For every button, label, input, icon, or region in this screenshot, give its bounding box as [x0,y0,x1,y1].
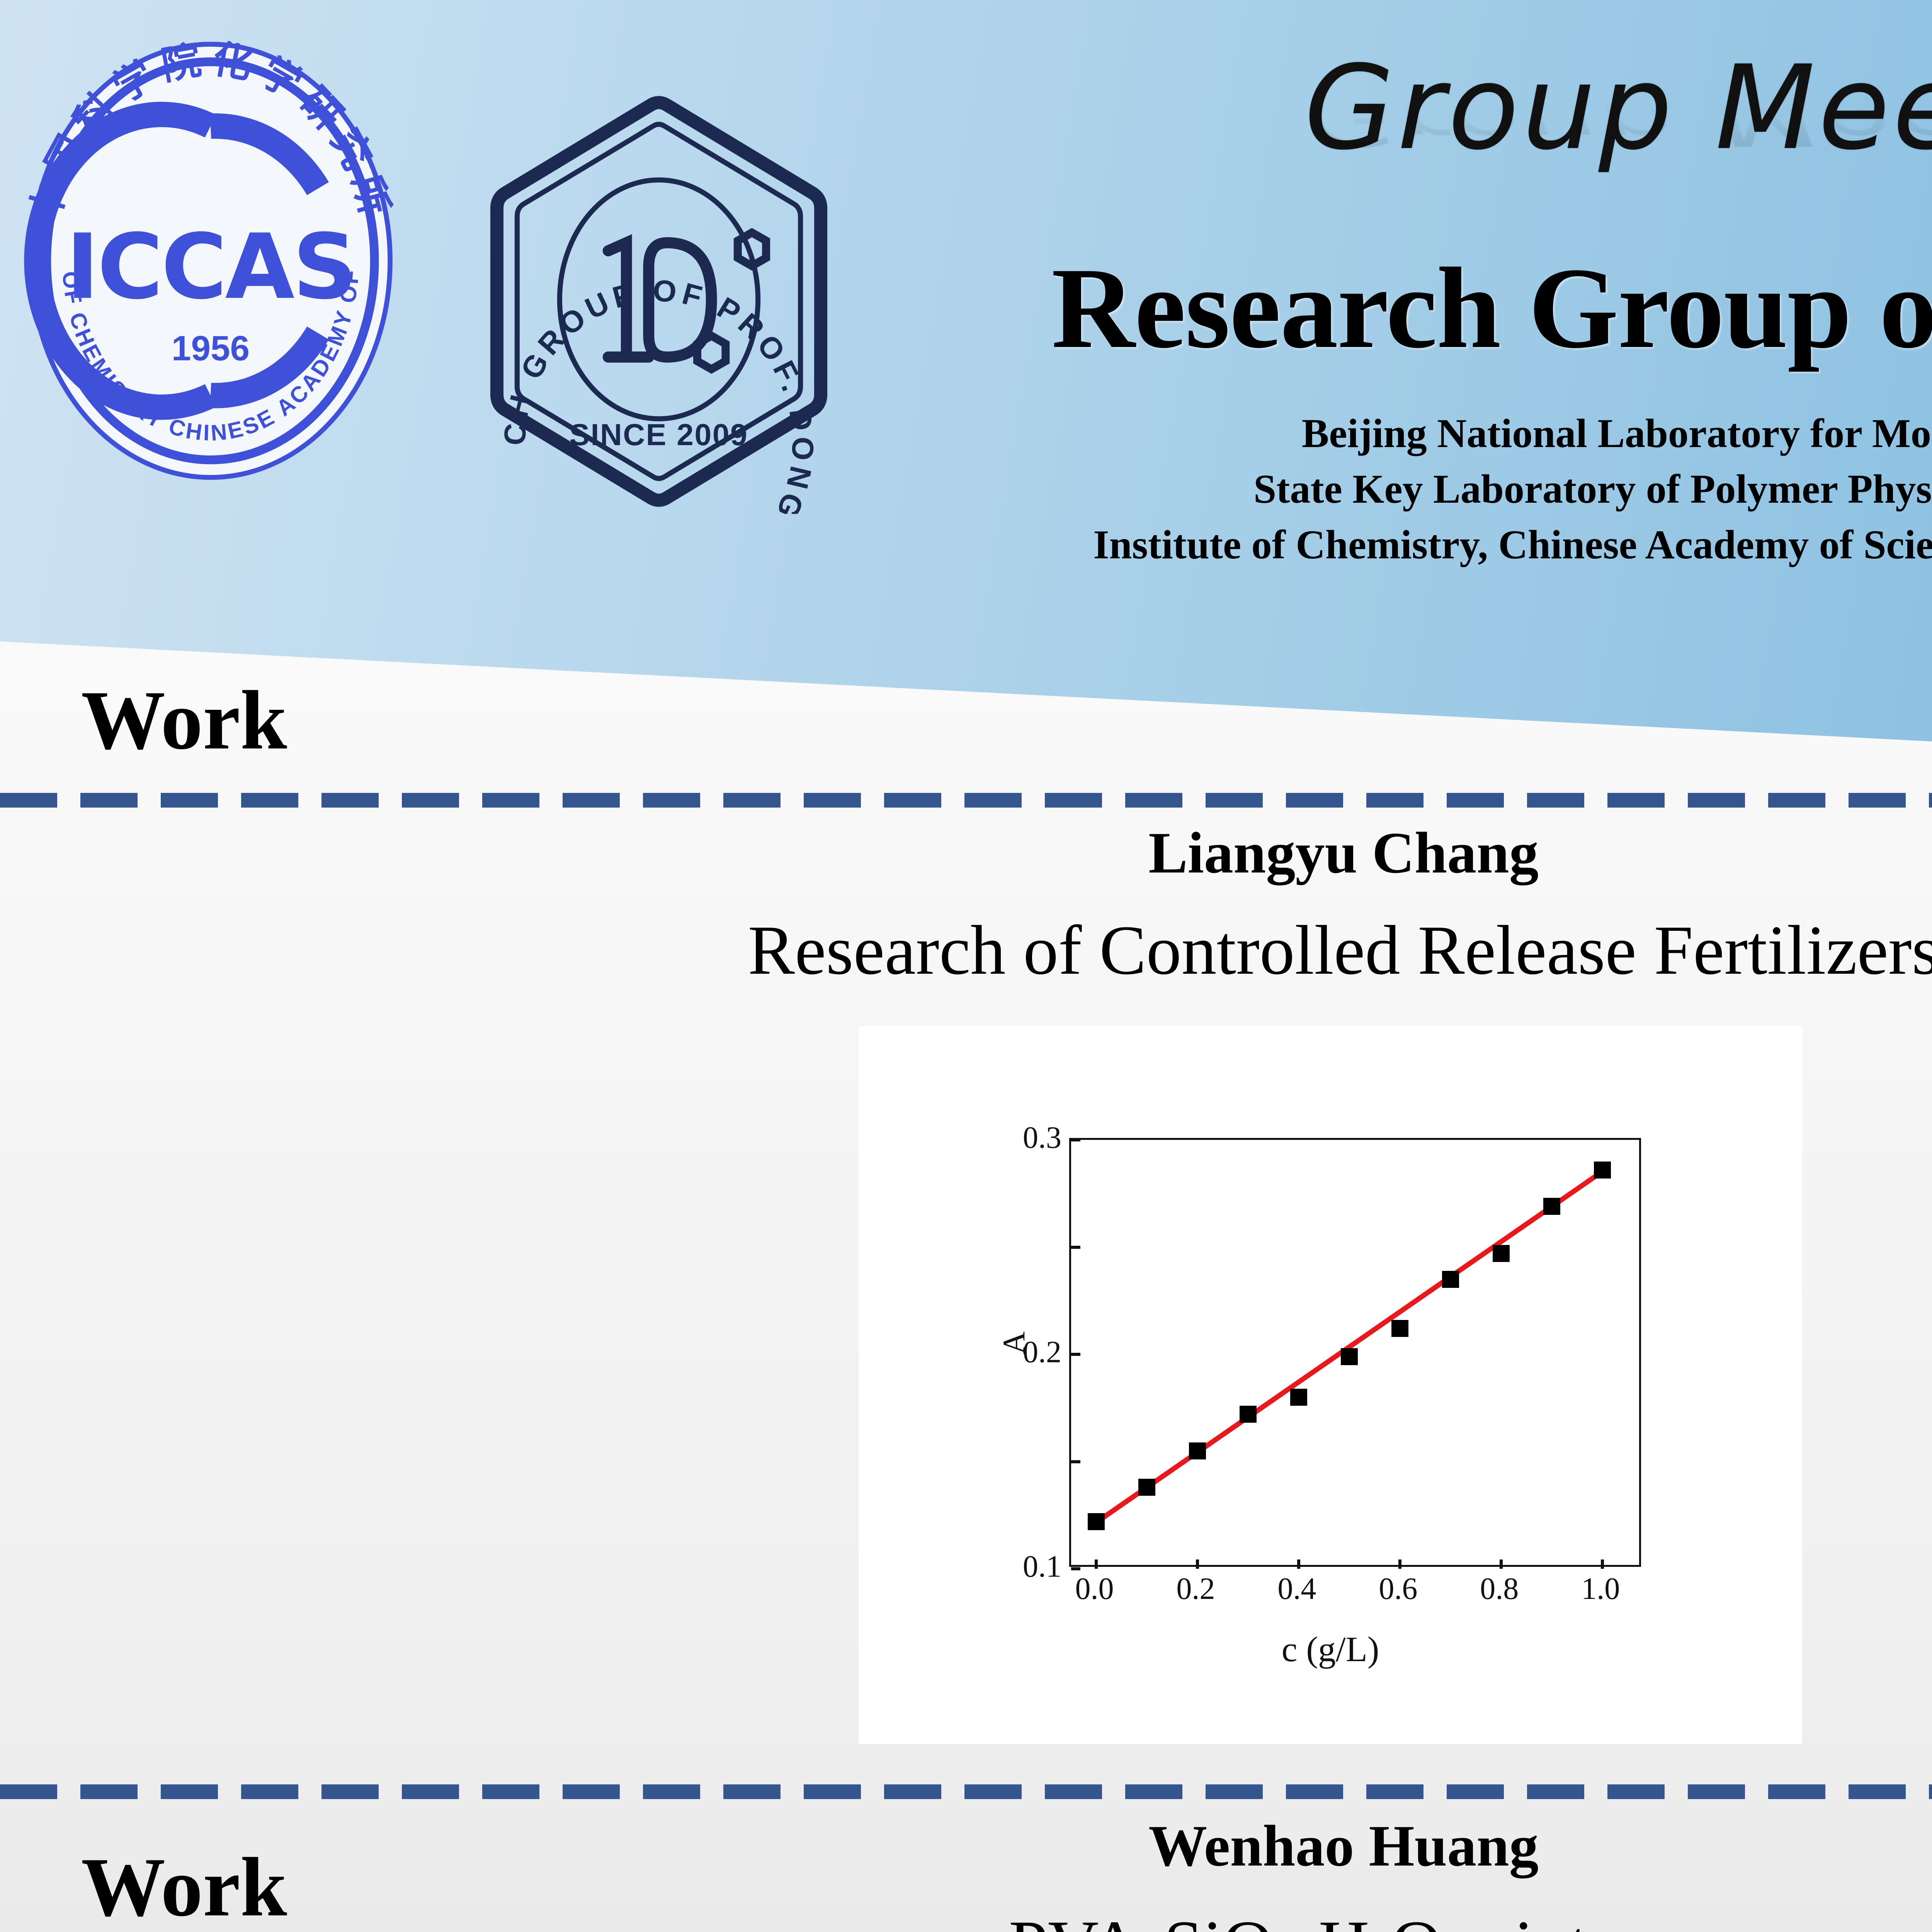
affiliation-line-2: State Key Laboratory of Polymer Physics … [842,461,1932,517]
chart1-x-tickmark [1601,1560,1604,1569]
section-label-work-1: Work [81,672,287,769]
title-block: Group Meeting Group Meeting Research Gro… [842,50,1932,573]
section-divider-2 [0,1784,1932,1799]
chart1-x-tickmark [1095,1560,1098,1569]
chart1-y-tickmark [1071,1567,1080,1570]
talk-title-2-part-1: PVA-SiO [1009,1906,1273,1932]
section-divider-1 [0,793,1932,808]
chart1-y-tickmark [1071,1353,1080,1356]
chart1-y-tickmark [1071,1138,1080,1141]
chart1-x-tickmark [1500,1560,1503,1569]
svg-text:1956: 1956 [172,329,250,368]
chart1-x-tick: 0.0 [1075,1571,1114,1607]
talk-title-2-part-3: O mixture [1391,1906,1678,1932]
chart1-x-tickmark [1398,1560,1401,1569]
chart1-data-point [1442,1271,1459,1288]
chart1-data-point [1543,1198,1560,1215]
chart1-x-tick: 0.2 [1176,1571,1215,1607]
affiliation-block: Beijing National Laboratory for Molecula… [842,406,1932,573]
chart1-data-point [1138,1479,1155,1496]
affiliation-line-1: Beijing National Laboratory for Molecula… [842,406,1932,461]
chart1-y-tick: 0.3 [973,1121,1061,1156]
chart1-x-ticks: 0.00.20.40.60.81.0 [1069,1571,1641,1610]
affiliation-line-3: Institute of Chemistry, Chinese Academy … [842,517,1932,573]
chart1-x-axis-label: c (g/L) [859,1629,1802,1670]
svg-text:ICCAS: ICCAS [66,214,355,319]
section-label-work-2: Work [81,1839,287,1932]
script-title-reflection: Group Meeting [842,87,1932,155]
talk-title-1: Research of Controlled Release Fertilize… [0,910,1932,991]
talk-title-2-part-2: -H [1295,1906,1369,1932]
chart1-y-ticks: 0.10.20.3 [963,1138,1061,1567]
chart1-data-point [1493,1245,1510,1262]
chart1-data-point [1088,1513,1105,1530]
chart1-data-point [1391,1320,1408,1337]
chart1-data-point [1189,1442,1206,1459]
chart1-x-tick: 0.6 [1379,1571,1417,1607]
chart1-data-point [1290,1389,1307,1406]
chart1-y-tickmark [1071,1460,1080,1463]
chart1-data-point [1240,1406,1257,1423]
presenter-name-2: Wenhao Huang [0,1812,1932,1879]
chart1-x-tick: 1.0 [1581,1571,1620,1607]
chart1-x-tick: 0.4 [1277,1571,1316,1607]
chart1-y-tickmark [1071,1246,1080,1249]
chart1-y-tick: 0.2 [973,1335,1061,1370]
chart1-x-tickmark [1297,1560,1300,1569]
iccas-logo: ICCAS 1956 中国科学院化学研究所 INSTITUTE OF CHEMI… [15,12,406,510]
chart1-x-tick: 0.8 [1480,1571,1519,1607]
research-group-logo: • RESEARCH GROUP OF PROF. DONG QIU • SIN… [456,89,862,514]
chart1-plot-area [1069,1138,1641,1567]
talk-title-2: PVA-SiO2-H2O mixture [0,1905,1932,1932]
chart1-y-tick: 0.1 [973,1549,1061,1585]
calibration-curve-figure: A 0.10.20.3 0.00.20.40.60.81.0 c (g/L) [859,1026,1802,1744]
page-title: Research Group of Prof. Qiu [842,247,1932,369]
presenter-name-1: Liangyu Chang [0,819,1932,886]
svg-text:SINCE 2009: SINCE 2009 [570,418,748,452]
chart1-x-tickmark [1196,1560,1199,1569]
chart1-data-point [1341,1348,1358,1365]
chart1-data-point [1594,1162,1611,1179]
